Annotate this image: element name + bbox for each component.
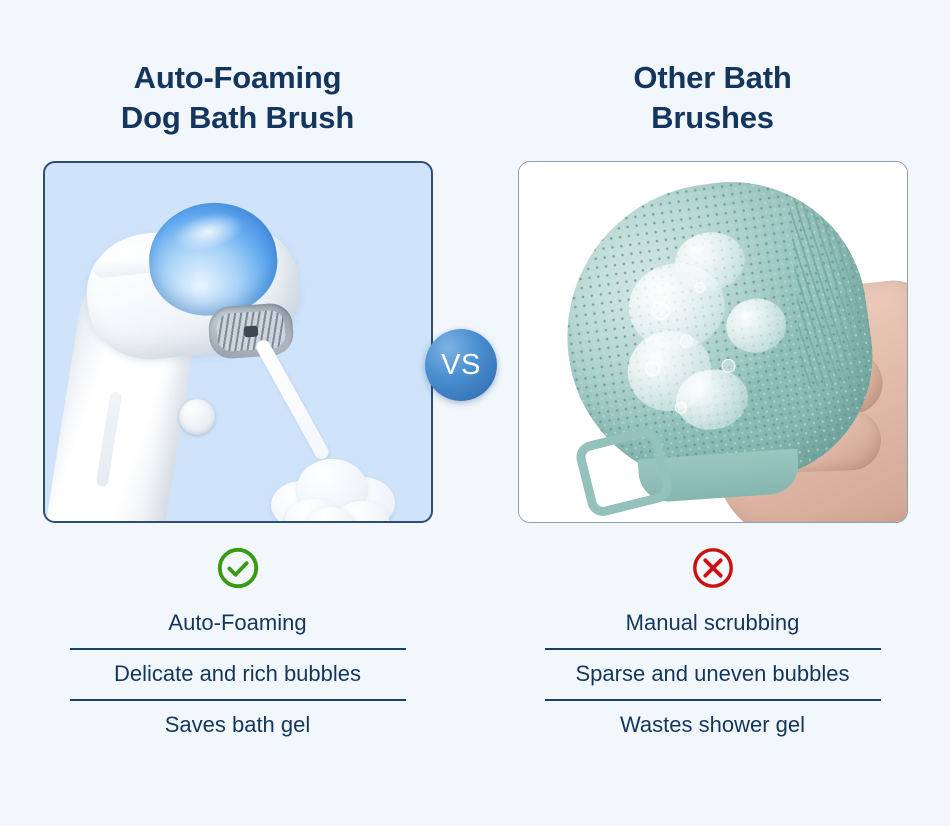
feature-item: Wastes shower gel bbox=[545, 699, 881, 750]
auto-foaming-brush-illustration bbox=[45, 163, 431, 521]
product-comparison: Auto-Foaming Dog Bath Brush bbox=[0, 0, 950, 826]
feature-item: Sparse and uneven bubbles bbox=[545, 648, 881, 699]
vs-badge: VS bbox=[425, 329, 497, 401]
right-product-image-panel bbox=[518, 161, 908, 523]
comparison-column-right: Other Bath Brushes bbox=[475, 0, 950, 826]
feature-item: Delicate and rich bubbles bbox=[70, 648, 406, 699]
comparison-column-left: Auto-Foaming Dog Bath Brush bbox=[0, 0, 475, 826]
right-heading-line-2: Brushes bbox=[533, 98, 893, 138]
left-column-heading: Auto-Foaming Dog Bath Brush bbox=[58, 58, 418, 137]
check-circle-icon bbox=[215, 545, 261, 591]
silicone-edge-bristles bbox=[789, 194, 874, 389]
brush-foam-nozzle bbox=[243, 326, 258, 338]
x-circle-icon bbox=[690, 545, 736, 591]
feature-item: Saves bath gel bbox=[70, 699, 406, 750]
right-heading-line-1: Other Bath bbox=[533, 58, 893, 98]
left-product-image-panel bbox=[43, 161, 433, 523]
brush-vent-grille bbox=[207, 302, 294, 360]
foam-stream bbox=[253, 338, 330, 462]
feature-item: Auto-Foaming bbox=[70, 599, 406, 648]
right-column-heading: Other Bath Brushes bbox=[533, 58, 893, 137]
brush-power-button bbox=[179, 399, 215, 435]
silicone-bath-brush-illustration bbox=[519, 162, 907, 522]
left-heading-line-2: Dog Bath Brush bbox=[58, 98, 418, 138]
left-feature-list: Auto-Foaming Delicate and rich bubbles S… bbox=[70, 545, 406, 750]
left-heading-line-1: Auto-Foaming bbox=[58, 58, 418, 98]
feature-item: Manual scrubbing bbox=[545, 599, 881, 648]
right-feature-list: Manual scrubbing Sparse and uneven bubbl… bbox=[545, 545, 881, 750]
vs-badge-label: VS bbox=[441, 351, 481, 380]
